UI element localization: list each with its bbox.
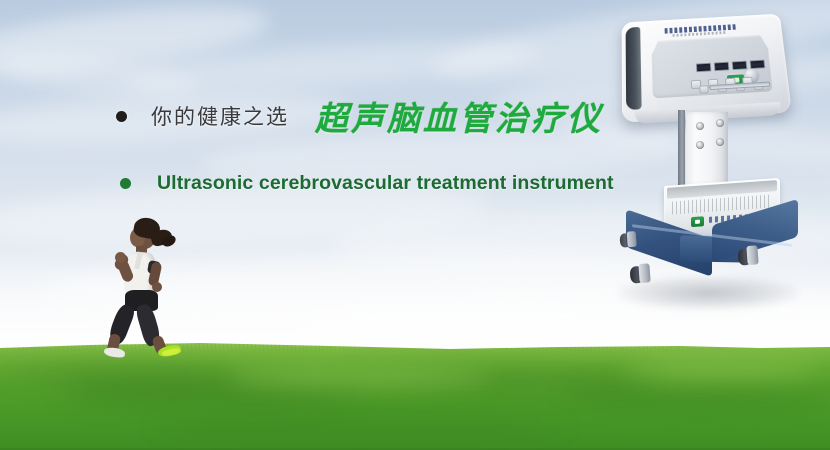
tagline-chinese: 你的健康之选 (151, 101, 289, 131)
caster-hub (638, 263, 650, 283)
grass-shading (560, 380, 830, 412)
cart-base (626, 220, 804, 280)
grass-highlight (230, 366, 490, 388)
console-left-bezel (626, 27, 642, 110)
treatment-instrument-cart (612, 14, 808, 310)
cloud-wisp (0, 0, 272, 88)
grass-field (0, 342, 830, 450)
display-segment (714, 62, 730, 71)
runner-front-fist (115, 252, 126, 263)
connector-port[interactable] (716, 119, 724, 127)
display-segment (696, 63, 712, 72)
cloud-wisp (119, 31, 541, 100)
console-control-panel (651, 34, 773, 98)
display-segment (732, 61, 748, 70)
subtitle-english: Ultrasonic cerebrovascular treatment ins… (157, 172, 614, 195)
headline-chinese: 超声脑血管治疗仪 (315, 92, 603, 140)
grass-shading (0, 360, 220, 384)
grass-shading (150, 412, 570, 438)
cart-caster-wheel (629, 261, 650, 284)
connector-port[interactable] (696, 141, 704, 149)
jogging-woman-photo (96, 216, 206, 356)
grass-highlight (620, 360, 820, 380)
grass-shading (60, 372, 360, 406)
cart-caster-wheel (737, 243, 758, 266)
caster-hub (627, 231, 637, 247)
subtitle-row: Ultrasonic cerebrovascular treatment ins… (120, 172, 614, 195)
headline-row: 你的健康之选 超声脑血管治疗仪 (116, 92, 603, 140)
connector-port[interactable] (716, 138, 724, 146)
grass-shading (330, 366, 660, 394)
caster-hub (746, 245, 758, 265)
dark-bullet-icon (116, 111, 127, 122)
promo-banner: 你的健康之选 超声脑血管治疗仪 Ultrasonic cerebrovascul… (0, 0, 830, 450)
cart-caster-wheel (619, 229, 637, 248)
green-bullet-icon (120, 178, 131, 189)
display-segment (750, 60, 766, 69)
connector-port[interactable] (696, 122, 704, 130)
panel-button[interactable] (699, 85, 709, 93)
device-console-head (622, 14, 792, 123)
